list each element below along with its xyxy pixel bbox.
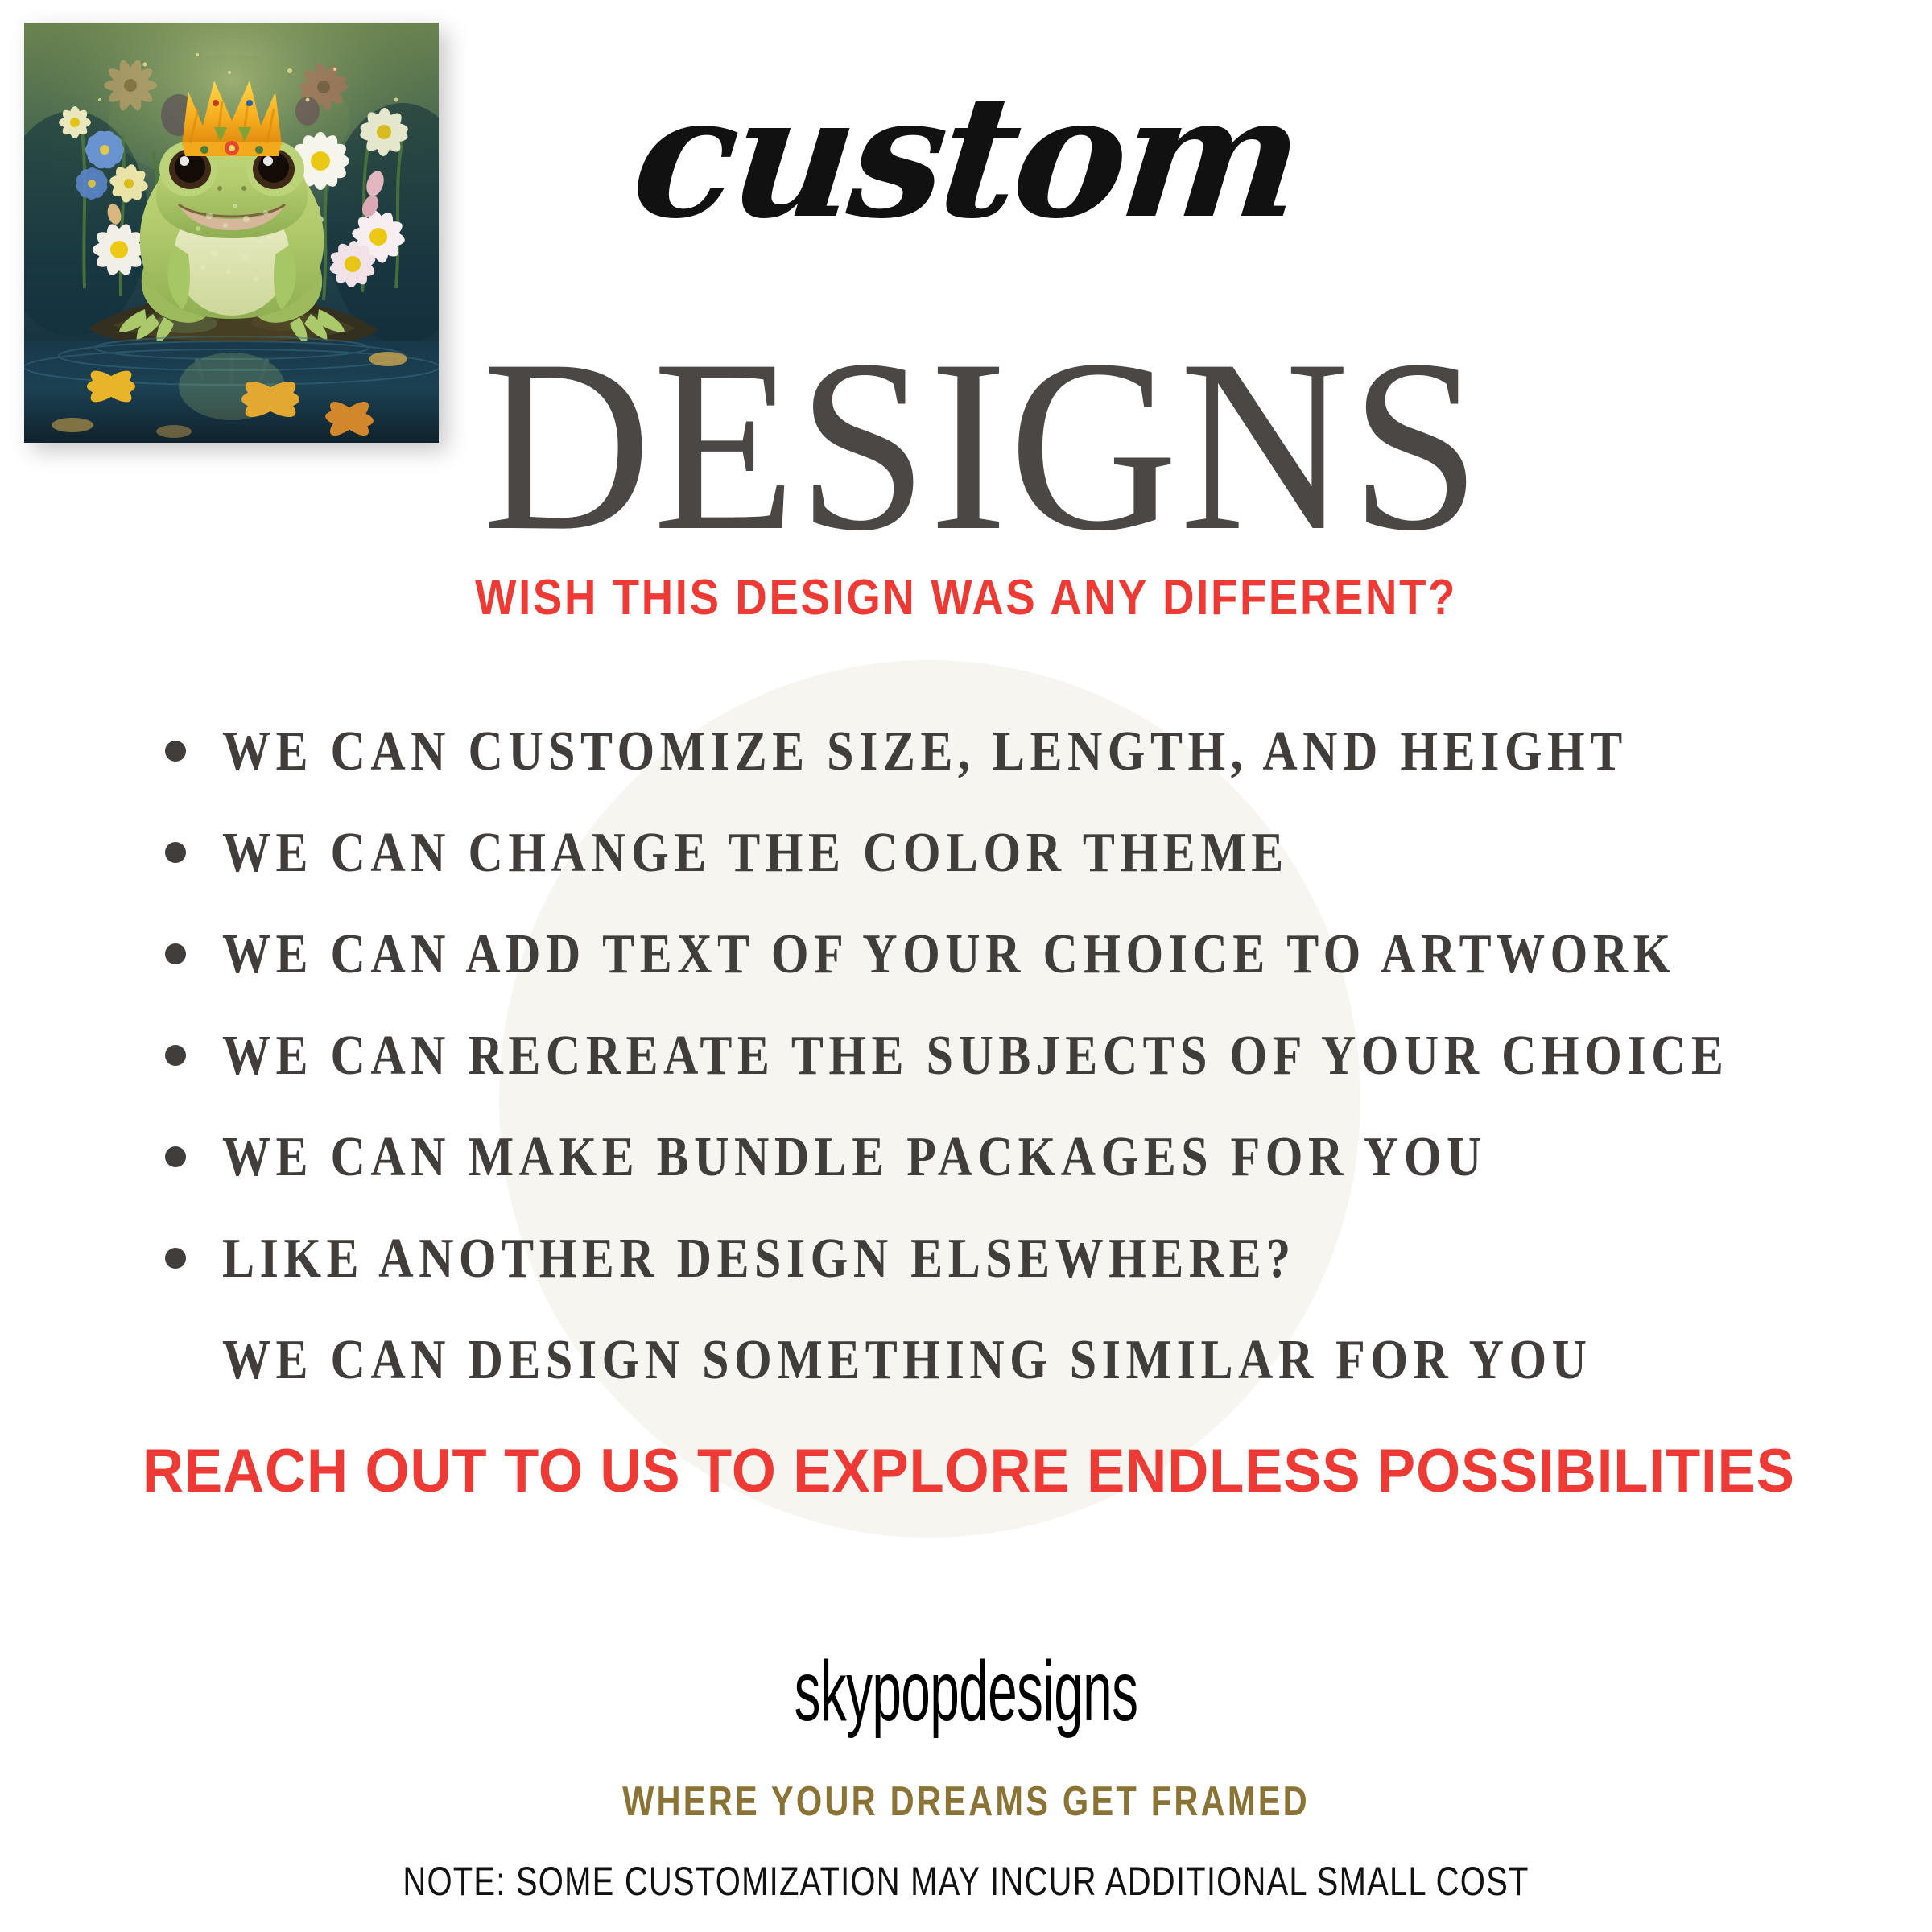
- list-item: WE CAN ADD TEXT OF YOUR CHOICE TO ARTWOR…: [157, 903, 1847, 1005]
- benefit-label: WE CAN DESIGN SOMETHING SIMILAR FOR YOU: [222, 1331, 1591, 1388]
- crowned-frog-illustration: [24, 23, 439, 443]
- benefits-list: WE CAN CUSTOMIZE SIZE, LENGTH, AND HEIGH…: [157, 700, 1847, 1410]
- brand-tagline: WHERE YOUR DREAMS GET FRAMED: [580, 1781, 1352, 1823]
- benefit-label: WE CAN MAKE BUNDLE PACKAGES FOR YOU: [222, 1129, 1487, 1185]
- bullet-placeholder: [165, 1349, 186, 1370]
- list-item: WE CAN CUSTOMIZE SIZE, LENGTH, AND HEIGH…: [157, 700, 1847, 802]
- bullet-dot-icon: [165, 741, 186, 762]
- benefit-label: LIKE ANOTHER DESIGN ELSEWHERE?: [222, 1230, 1296, 1286]
- list-item: WE CAN RECREATE THE SUBJECTS OF YOUR CHO…: [157, 1005, 1847, 1106]
- bullet-dot-icon: [165, 1045, 186, 1066]
- list-item: WE CAN CHANGE THE COLOR THEME: [157, 802, 1847, 903]
- list-item: LIKE ANOTHER DESIGN ELSEWHERE?: [157, 1207, 1847, 1309]
- script-headline-custom: custom: [474, 72, 1458, 242]
- benefit-label: WE CAN RECREATE THE SUBJECTS OF YOUR CHO…: [222, 1027, 1728, 1084]
- list-item: WE CAN MAKE BUNDLE PACKAGES FOR YOU: [157, 1106, 1847, 1207]
- footer-note: NOTE: SOME CUSTOMIZATION MAY INCUR ADDIT…: [386, 1861, 1546, 1901]
- cta-text[interactable]: REACH OUT TO US TO EXPLORE ENDLESS POSSI…: [142, 1441, 1790, 1502]
- artwork-thumbnail[interactable]: [24, 23, 439, 443]
- bullet-dot-icon: [165, 842, 186, 863]
- bullet-dot-icon: [165, 943, 186, 964]
- benefit-label: WE CAN CUSTOMIZE SIZE, LENGTH, AND HEIGH…: [222, 723, 1628, 779]
- brand-logo-text: skypopdesigns: [667, 1649, 1265, 1734]
- list-item-continuation: WE CAN DESIGN SOMETHING SIMILAR FOR YOU: [157, 1309, 1847, 1410]
- benefit-label: WE CAN CHANGE THE COLOR THEME: [222, 824, 1289, 881]
- subtitle-question: WISH THIS DESIGN WAS ANY DIFFERENT?: [258, 573, 1674, 623]
- bullet-dot-icon: [165, 1248, 186, 1269]
- bullet-dot-icon: [165, 1146, 186, 1167]
- page-title: DESIGNS: [404, 322, 1560, 568]
- benefit-label: WE CAN ADD TEXT OF YOUR CHOICE TO ARTWOR…: [222, 926, 1676, 982]
